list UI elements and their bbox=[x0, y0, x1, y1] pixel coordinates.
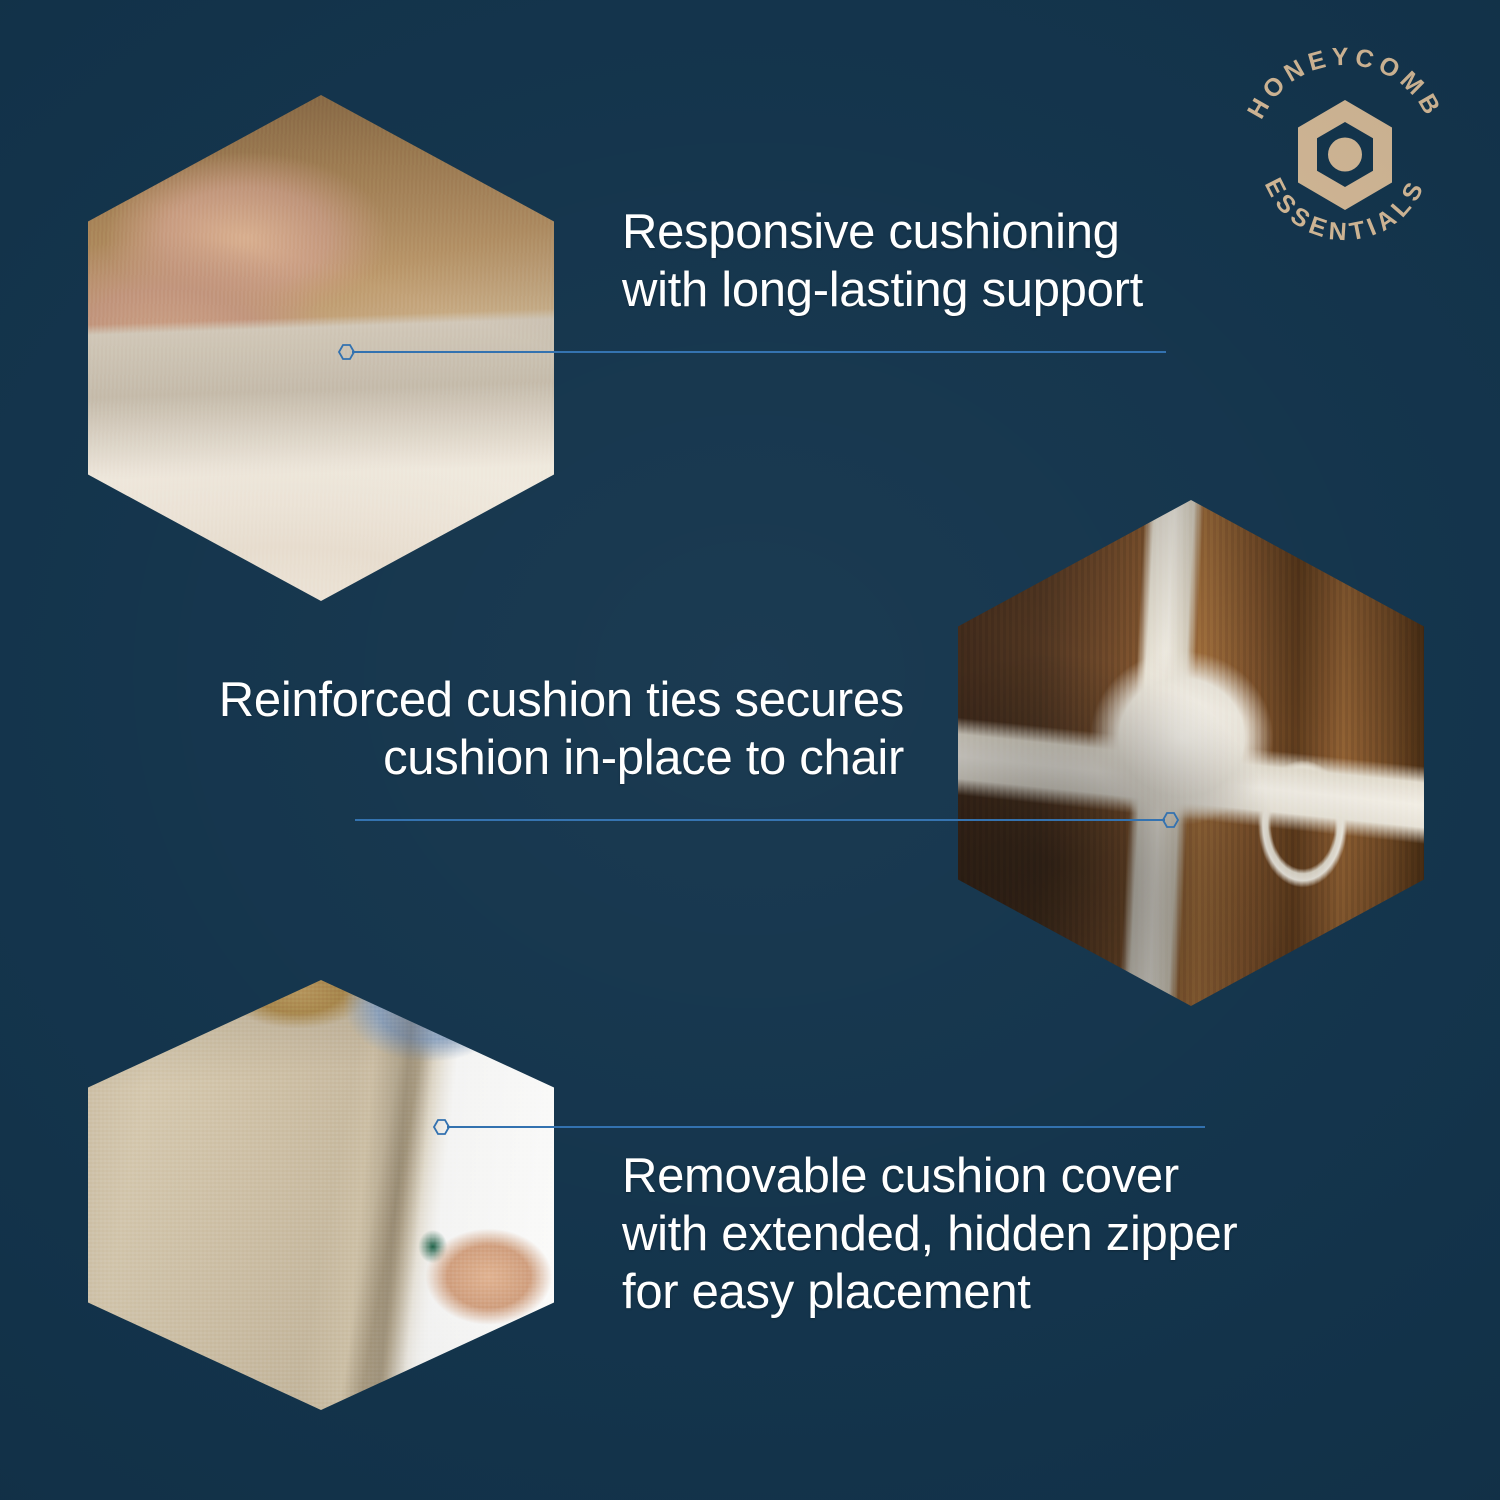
hexagon-marker-icon bbox=[1162, 812, 1179, 828]
connector-zipper bbox=[433, 1117, 1208, 1137]
feature-text-zipper: Removable cushion cover with extended, h… bbox=[622, 1148, 1422, 1321]
hexagon-marker-icon bbox=[338, 344, 355, 360]
hexagon-in-hexagon-icon bbox=[1298, 100, 1392, 210]
feature-text-cushioning: Responsive cushioning with long-lasting … bbox=[622, 204, 1262, 320]
connector-ties bbox=[355, 810, 1179, 830]
feature-image-ties bbox=[958, 500, 1424, 1006]
connector-cushioning bbox=[338, 342, 1168, 362]
connector-line bbox=[355, 819, 1165, 821]
infographic-canvas: HONEYCOMB ESSENTIALS Responsive c bbox=[0, 0, 1500, 1500]
connector-line bbox=[352, 351, 1166, 353]
feature-text-ties: Reinforced cushion ties secures cushion … bbox=[80, 672, 904, 788]
feature-image-zipper bbox=[88, 980, 554, 1410]
hexagon-marker-icon bbox=[433, 1119, 450, 1135]
connector-line bbox=[447, 1126, 1205, 1128]
brand-badge: HONEYCOMB ESSENTIALS bbox=[1228, 38, 1462, 272]
